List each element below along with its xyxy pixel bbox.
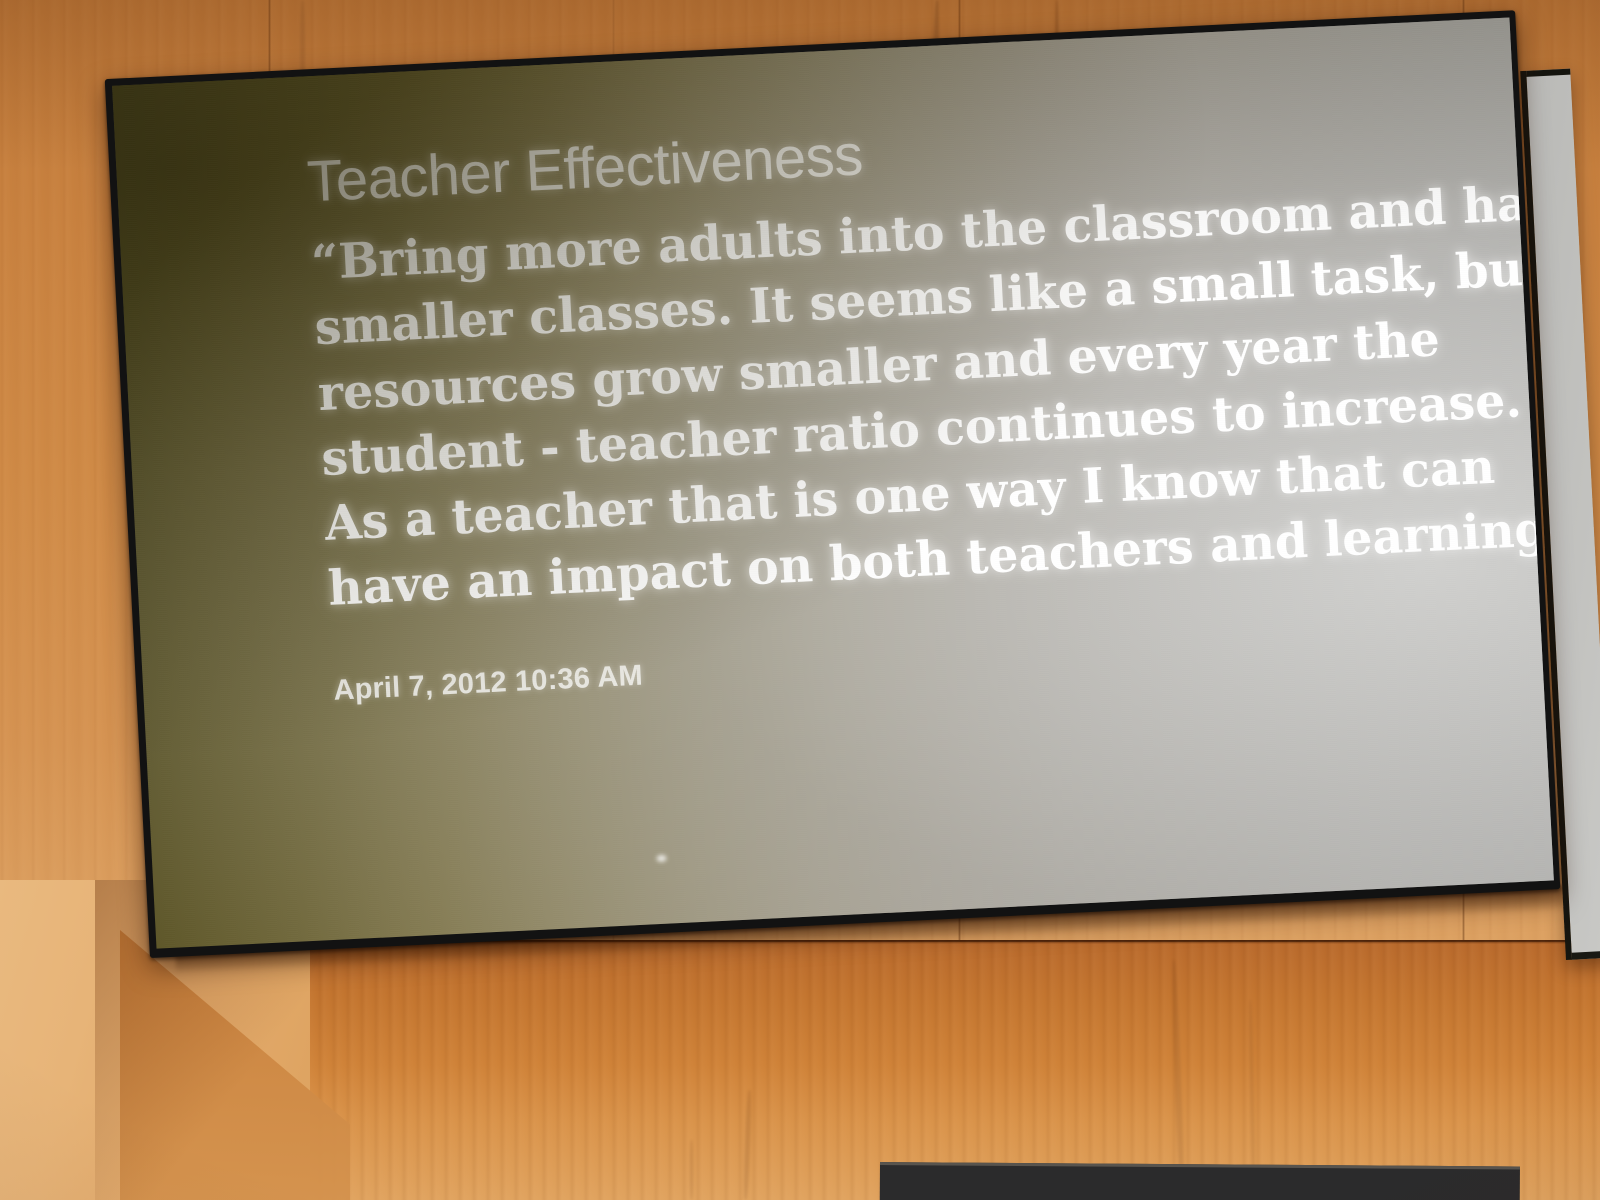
display-bezel: Teacher Effectiveness “Bring more adults… [105, 10, 1561, 958]
presentation-slide: Teacher Effectiveness “Bring more adults… [112, 17, 1554, 948]
adjacent-panel-bottom-bezel [1572, 950, 1600, 959]
slide-body-text: “Bring more adults into the classroom an… [310, 180, 1373, 622]
cabinet-wood-grain [205, 940, 1600, 1200]
wood-grain-mark [690, 1140, 693, 1200]
lower-cabinet [205, 940, 1600, 1200]
slide-timestamp: April 7, 2012 10:36 AM [333, 619, 1472, 708]
wall-mounted-display[interactable]: Teacher Effectiveness “Bring more adults… [105, 10, 1561, 958]
bottom-frame-object [880, 1162, 1520, 1200]
display-screen[interactable]: Teacher Effectiveness “Bring more adults… [112, 17, 1554, 948]
adjacent-panel-top-bezel [1526, 69, 1570, 77]
